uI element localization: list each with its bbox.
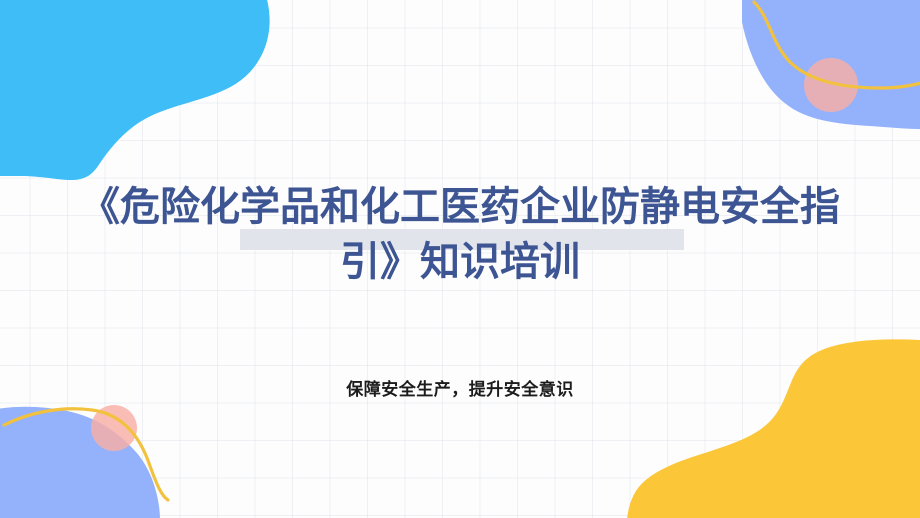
page-title: 《危险化学品和化工医药企业防静电安全指 引》知识培训: [0, 180, 920, 290]
page-title-line-1: 《危险化学品和化工医药企业防静电安全指: [28, 180, 892, 235]
slide-content: 《危险化学品和化工医药企业防静电安全指 引》知识培训 保障安全生产，提升安全意识: [0, 0, 920, 518]
title-slide: 《危险化学品和化工医药企业防静电安全指 引》知识培训 保障安全生产，提升安全意识: [0, 0, 920, 518]
page-title-line-2: 引》知识培训: [28, 235, 892, 290]
page-subtitle: 保障安全生产，提升安全意识: [0, 375, 920, 400]
